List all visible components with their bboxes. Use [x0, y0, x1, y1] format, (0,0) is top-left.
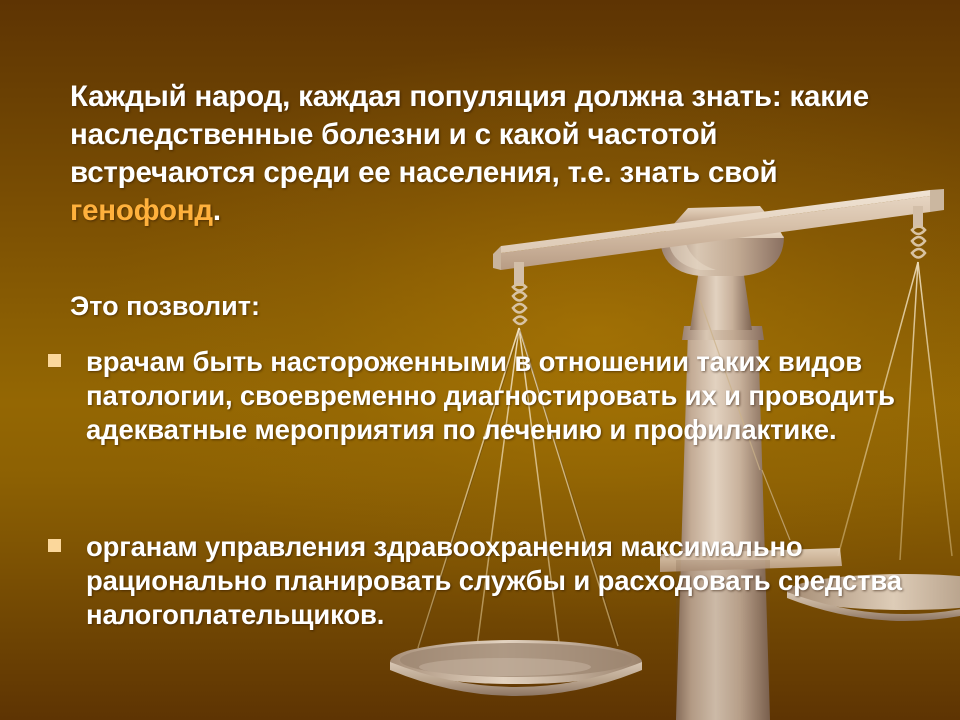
list-item: органам управления здравоохранения макси…	[48, 530, 918, 632]
list-item: врачам быть настороженными в отношении т…	[48, 345, 918, 447]
square-bullet-icon	[48, 354, 61, 367]
list-item-text: органам управления здравоохранения макси…	[86, 530, 918, 632]
list-item-text: врачам быть настороженными в отношении т…	[86, 345, 918, 447]
enables-heading: Это позволит:	[70, 290, 260, 324]
accent-term-genofond: генофонд	[70, 194, 213, 227]
square-bullet-icon	[48, 539, 61, 552]
lead-paragraph: Каждый народ, каждая популяция должна зн…	[70, 78, 908, 230]
lead-text-part2: .	[213, 194, 221, 227]
lead-text-part1: Каждый народ, каждая популяция должна зн…	[70, 80, 869, 189]
slide-content: Каждый народ, каждая популяция должна зн…	[0, 0, 960, 720]
presentation-slide: Каждый народ, каждая популяция должна зн…	[0, 0, 960, 720]
